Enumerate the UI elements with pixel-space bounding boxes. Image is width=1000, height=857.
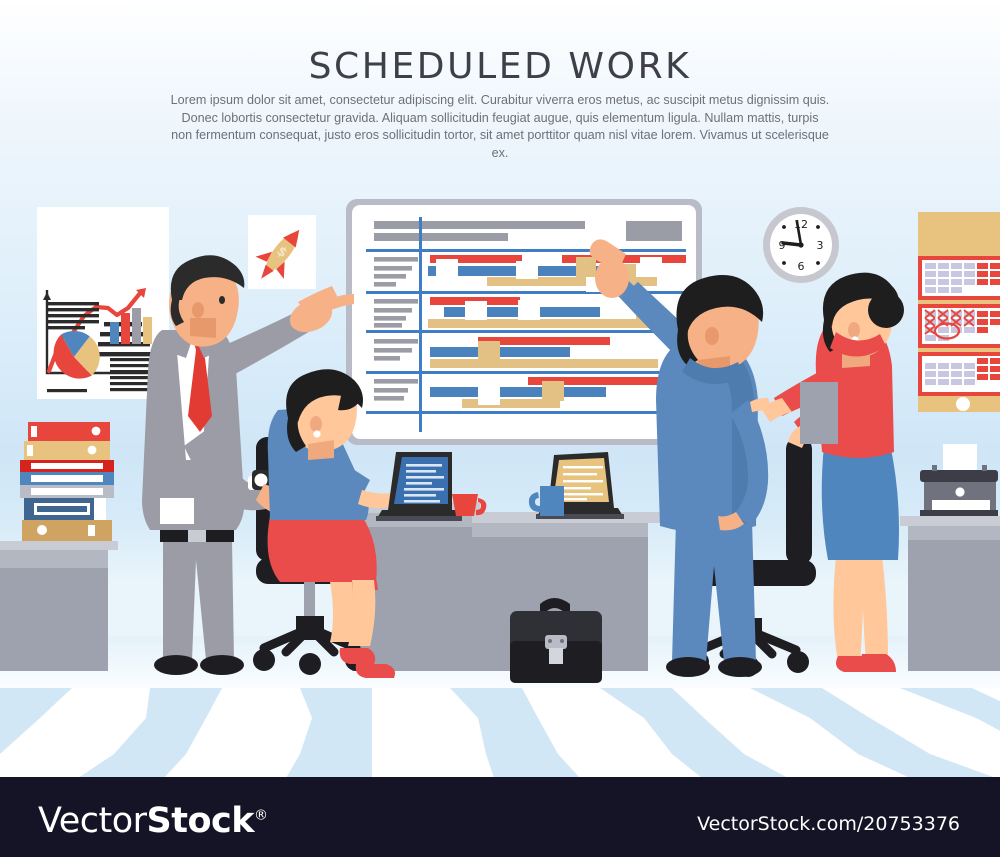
wall-calendar [918,212,1000,412]
logo-bold: Stock [147,801,255,841]
office-scene: $ [0,0,1000,780]
coffee-mug-blue [529,486,564,516]
rocket-dollar-poster: $ [247,215,316,290]
illustration-canvas: SCHEDULED WORK Lorem ipsum dolor sit ame… [0,0,1000,857]
watermark-bar: VectorStock® VectorStock.com/20753376 [0,777,1000,857]
clock-numeral-12: 12 [794,218,808,231]
clipboard [800,382,838,444]
clock-hour-hand [783,243,801,245]
poster-lines-lowerleft [47,389,87,392]
desk-printer [920,444,998,516]
wall-clock: 12 3 6 9 [763,207,839,283]
checkerboard-floor [0,688,1000,778]
printer-desk [900,516,1000,671]
binder-stack [20,422,114,541]
laptop-left[interactable] [376,452,462,521]
registered-mark: ® [254,807,268,823]
hair-bun [868,292,904,328]
vectorstock-url: VectorStock.com/20753376 [697,813,960,835]
clock-numeral-9: 9 [779,239,786,252]
vectorstock-logo: VectorStock® [38,801,268,841]
logo-light: Vector [38,801,147,841]
left-desk [0,541,118,671]
clock-numeral-6: 6 [798,260,805,273]
person-standing-woman [750,273,904,672]
coffee-cup-red [452,494,486,516]
clock-numeral-3: 3 [817,239,824,252]
